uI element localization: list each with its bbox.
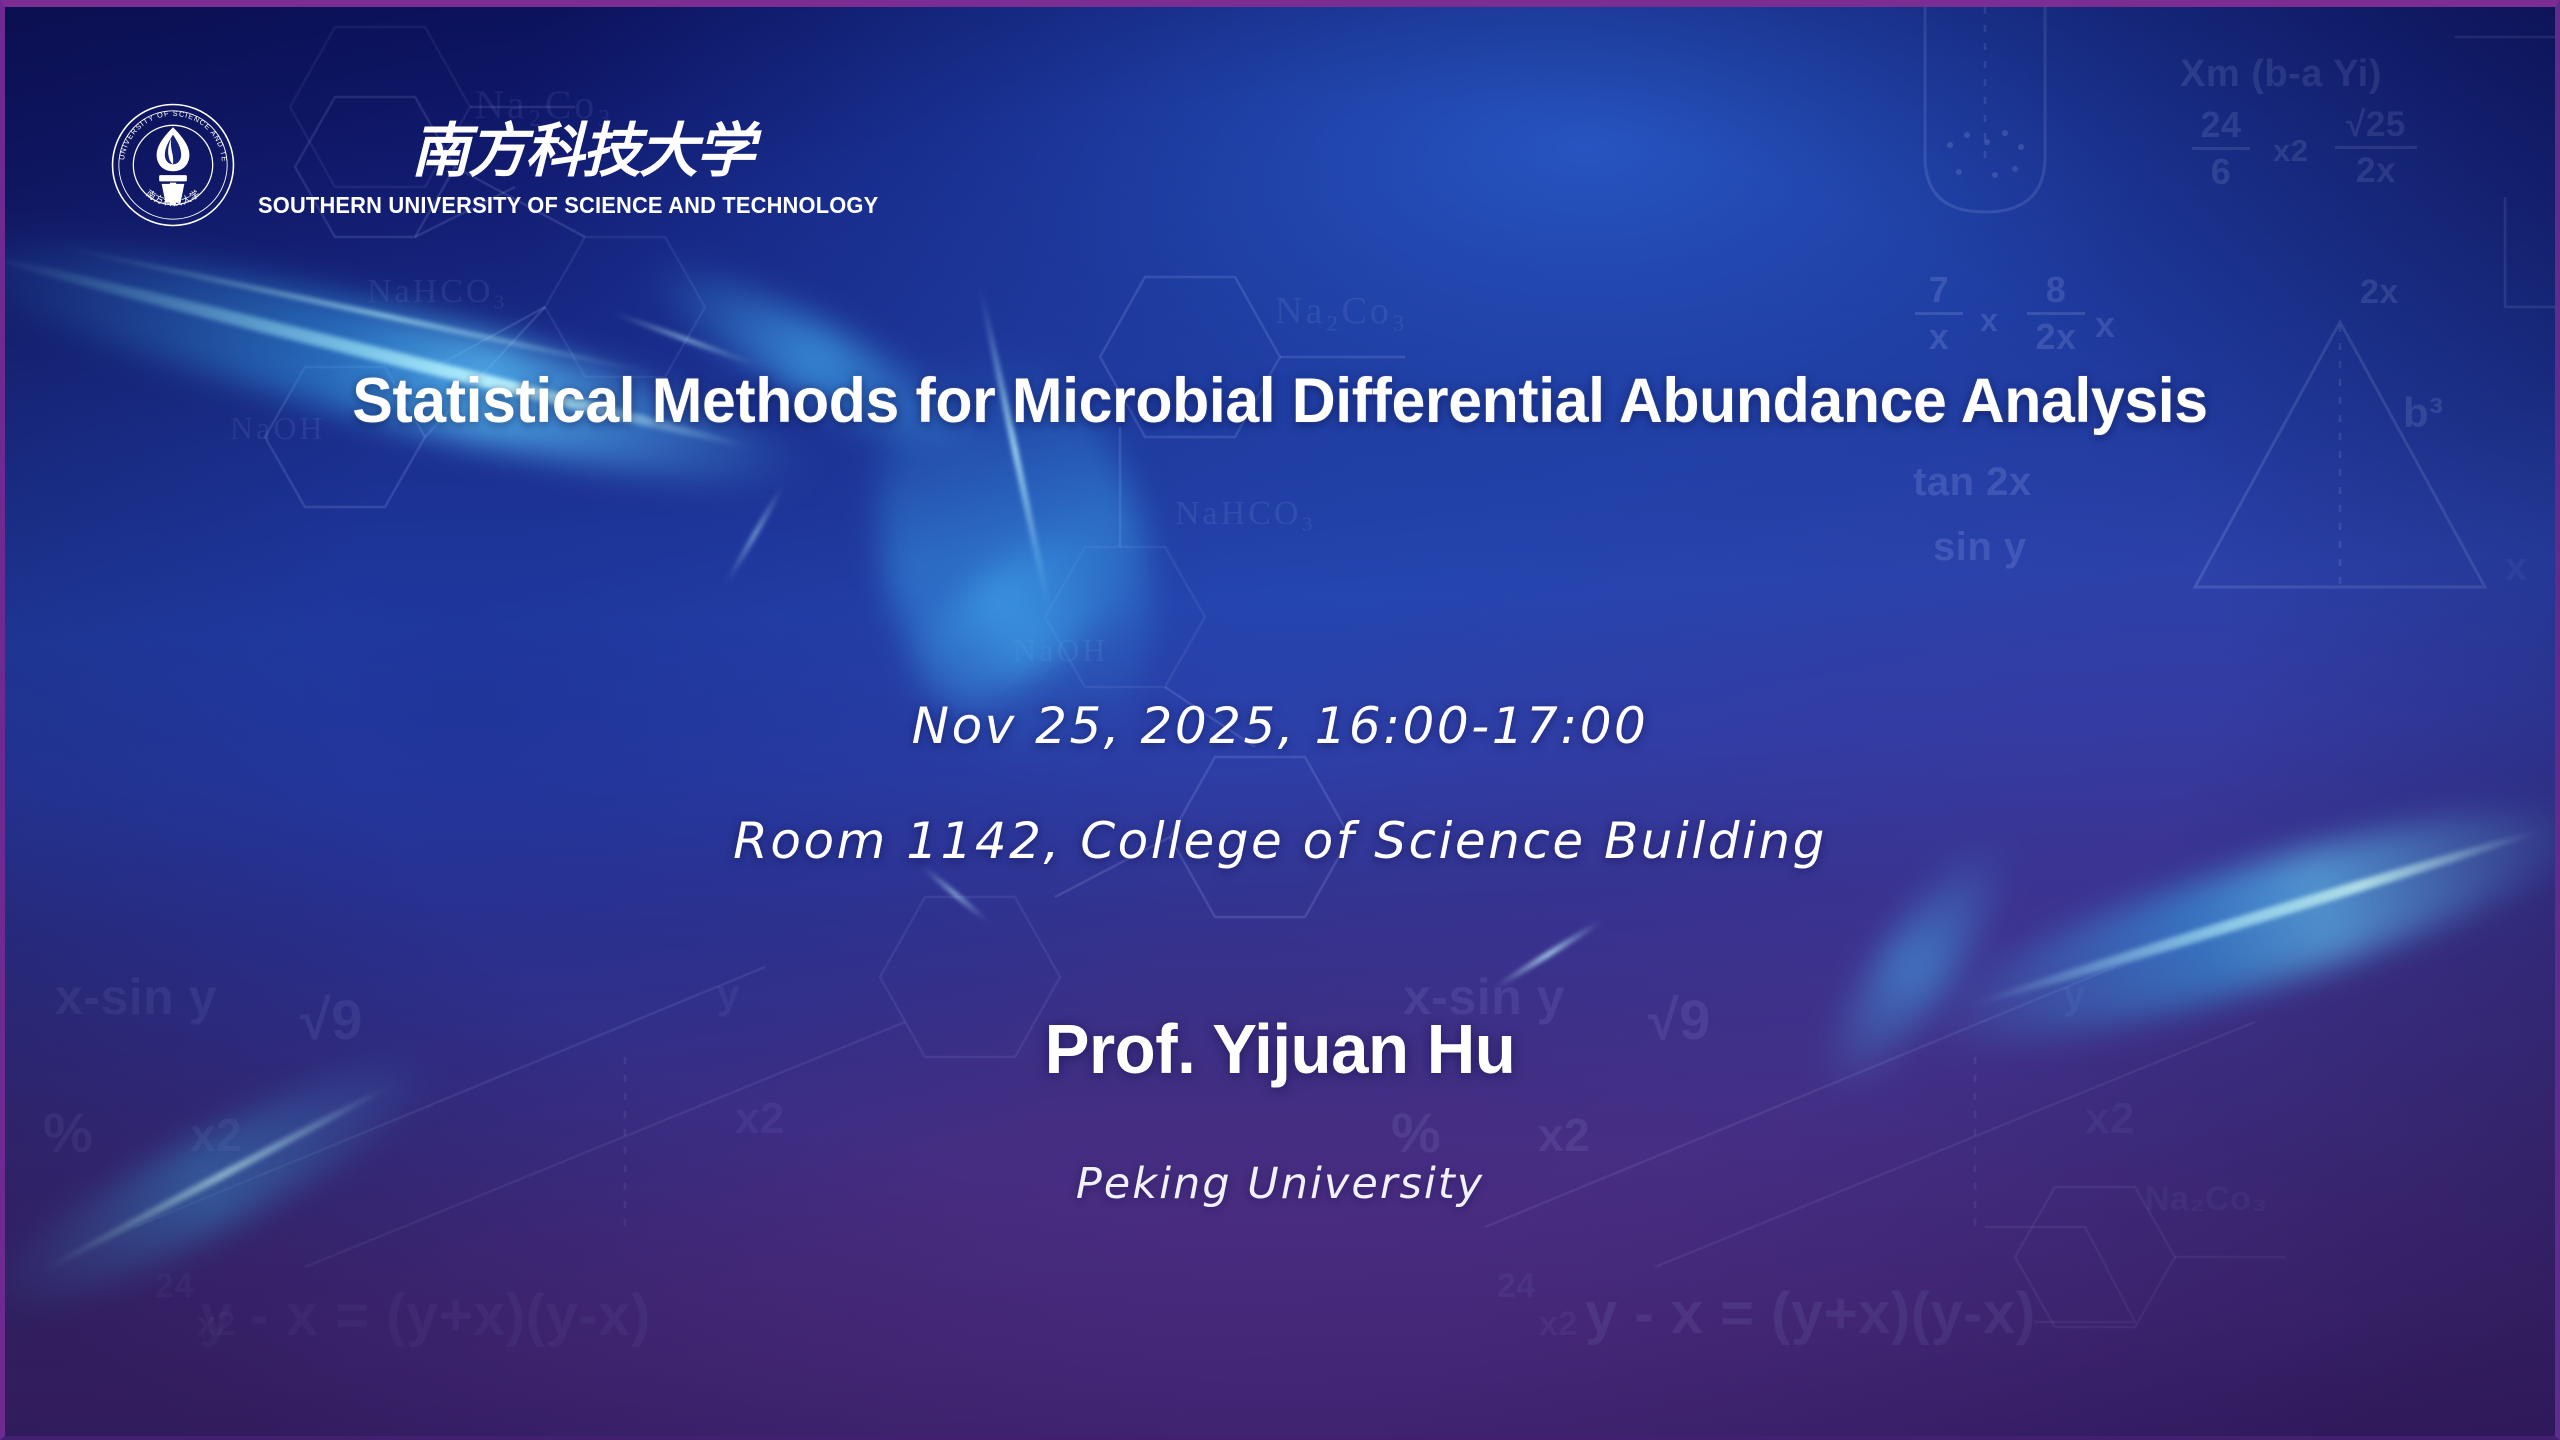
sustech-crest-icon: SOUTHERN UNIVERSITY OF SCIENCE AND TECHN…: [110, 102, 236, 228]
speaker-name: Prof. Yijuan Hu: [56, 1009, 2504, 1089]
page-title: Statistical Methods for Microbial Differ…: [50, 365, 2511, 437]
speaker-affiliation: Peking University: [5, 1159, 2555, 1209]
svg-text:南方科技大学: 南方科技大学: [411, 115, 762, 184]
event-datetime: Nov 25, 2025, 16:00-17:00: [5, 697, 2555, 755]
sustech-wordmark-cn-icon: 南方科技大学: [258, 112, 925, 188]
seminar-poster: NaHCO₃ NaOH Na₂Co₃ Na₂Co₃ NaHCO₃ NaOH: [0, 0, 2560, 1440]
sustech-wordmark-en: SOUTHERN UNIVERSITY OF SCIENCE AND TECHN…: [258, 192, 878, 219]
sustech-wordmark: 南方科技大学 SOUTHERN UNIVERSITY OF SCIENCE AN…: [258, 112, 925, 219]
sustech-logo: SOUTHERN UNIVERSITY OF SCIENCE AND TECHN…: [110, 102, 925, 228]
event-venue: Room 1142, College of Science Building: [5, 812, 2555, 870]
